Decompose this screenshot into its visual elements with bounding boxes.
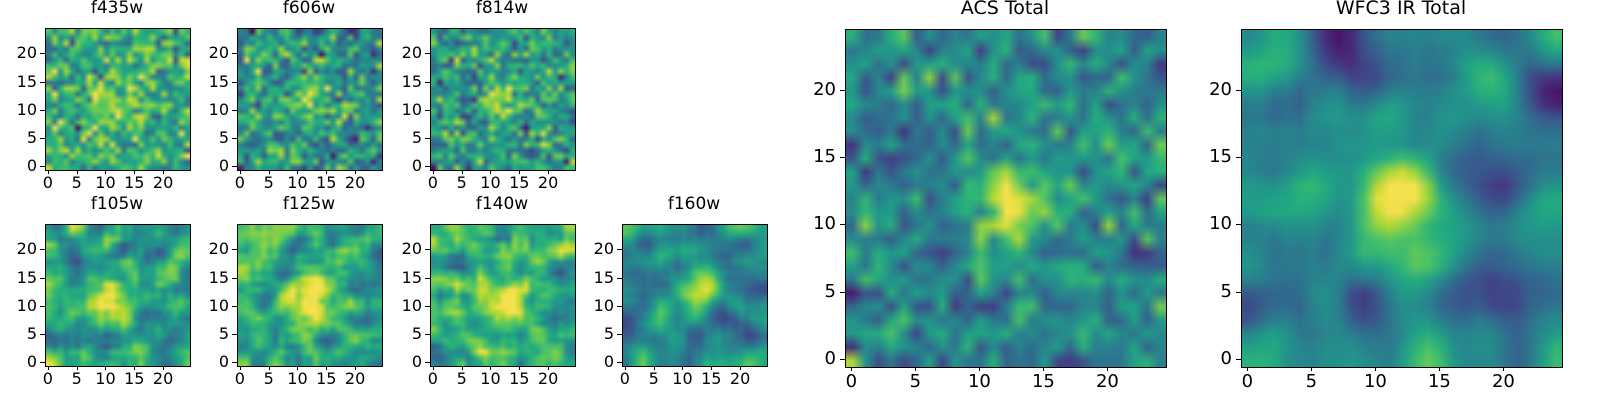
xtick-label: 0 [235, 175, 245, 191]
axes-f814w [430, 28, 576, 171]
ytick-label: 10 [370, 102, 422, 118]
xtick-label: 20 [730, 371, 750, 387]
heatmap-f814w [431, 29, 575, 170]
ytick-label: 20 [0, 241, 37, 257]
xtick-label: 5 [264, 175, 274, 191]
ytick-mark [40, 249, 45, 250]
ytick-mark [425, 249, 430, 250]
ytick-label: 15 [370, 74, 422, 90]
xtick-label: 15 [509, 175, 529, 191]
ytick-label: 0 [370, 158, 422, 174]
ytick-label: 0 [0, 354, 37, 370]
ytick-label: 20 [370, 45, 422, 61]
panel-f160w: f160w0510152005101520 [562, 196, 786, 407]
ytick-mark [425, 334, 430, 335]
ytick-mark [40, 334, 45, 335]
ytick-label: 15 [0, 74, 37, 90]
ytick-mark [40, 278, 45, 279]
panel-title-f160w: f160w [622, 196, 766, 213]
ytick-label: 20 [1181, 81, 1232, 99]
ytick-label: 10 [370, 298, 422, 314]
heatmap-f160w [623, 225, 767, 366]
ytick-mark [425, 306, 430, 307]
ytick-mark [840, 359, 845, 360]
ytick-mark [40, 362, 45, 363]
heatmap-f125w [238, 225, 382, 366]
heatmap-f606w [238, 29, 382, 170]
xtick-label: 15 [316, 175, 336, 191]
panel-f140w: f140w0510152005101520 [370, 196, 594, 407]
ytick-mark [425, 53, 430, 54]
ytick-label: 20 [0, 45, 37, 61]
xtick-label: 15 [124, 371, 144, 387]
ytick-label: 0 [785, 350, 836, 368]
xtick-label: 15 [1032, 373, 1055, 391]
heatmap-f105w [46, 225, 190, 366]
xtick-label: 5 [649, 371, 659, 387]
ytick-label: 0 [177, 158, 229, 174]
ytick-label: 15 [785, 148, 836, 166]
ytick-mark [232, 278, 237, 279]
ytick-mark [232, 249, 237, 250]
ytick-label: 10 [562, 298, 614, 314]
xtick-label: 10 [95, 175, 115, 191]
xtick-label: 0 [428, 175, 438, 191]
ytick-mark [425, 82, 430, 83]
xtick-label: 0 [428, 371, 438, 387]
panel-title-wfc3-ir-total: WFC3 IR Total [1241, 0, 1561, 18]
ytick-label: 10 [177, 102, 229, 118]
ytick-mark [1236, 292, 1241, 293]
xtick-label: 0 [43, 175, 53, 191]
ytick-mark [40, 306, 45, 307]
xtick-label: 10 [95, 371, 115, 387]
ytick-label: 10 [1181, 215, 1232, 233]
ytick-label: 5 [177, 130, 229, 146]
panel-f125w: f125w0510152005101520 [177, 196, 401, 407]
heatmap-f140w [431, 225, 575, 366]
ytick-mark [40, 166, 45, 167]
ytick-label: 20 [785, 81, 836, 99]
ytick-mark [425, 110, 430, 111]
ytick-label: 10 [0, 102, 37, 118]
ytick-label: 10 [177, 298, 229, 314]
xtick-label: 0 [235, 371, 245, 387]
ytick-mark [425, 362, 430, 363]
ytick-label: 20 [370, 241, 422, 257]
axes-f125w [237, 224, 383, 367]
panel-title-f105w: f105w [45, 196, 189, 213]
ytick-label: 15 [1181, 148, 1232, 166]
ytick-mark [1236, 224, 1241, 225]
ytick-mark [232, 110, 237, 111]
xtick-label: 10 [480, 371, 500, 387]
ytick-mark [425, 278, 430, 279]
ytick-mark [40, 138, 45, 139]
panel-f606w: f606w0510152005101520 [177, 0, 401, 211]
ytick-mark [232, 166, 237, 167]
ytick-label: 10 [0, 298, 37, 314]
axes-acs-total [845, 29, 1167, 368]
panel-title-acs-total: ACS Total [845, 0, 1165, 18]
ytick-label: 15 [0, 270, 37, 286]
xtick-label: 0 [43, 371, 53, 387]
panel-wfc3-ir-total: WFC3 IR Total0510152005101520 [1181, 0, 1581, 406]
ytick-mark [40, 82, 45, 83]
axes-f160w [622, 224, 768, 367]
panel-title-f814w: f814w [430, 0, 574, 17]
ytick-label: 15 [370, 270, 422, 286]
xtick-label: 10 [287, 371, 307, 387]
xtick-label: 20 [1096, 373, 1119, 391]
xtick-label: 5 [1306, 373, 1317, 391]
ytick-mark [1236, 359, 1241, 360]
axes-f606w [237, 28, 383, 171]
xtick-label: 15 [1428, 373, 1451, 391]
panel-title-f140w: f140w [430, 196, 574, 213]
xtick-label: 10 [1364, 373, 1387, 391]
axes-f105w [45, 224, 191, 367]
xtick-label: 0 [1242, 373, 1253, 391]
ytick-label: 5 [177, 326, 229, 342]
panel-title-f125w: f125w [237, 196, 381, 213]
panel-title-f435w: f435w [45, 0, 189, 17]
ytick-mark [40, 110, 45, 111]
ytick-mark [840, 224, 845, 225]
axes-f140w [430, 224, 576, 367]
ytick-label: 5 [562, 326, 614, 342]
heatmap-f435w [46, 29, 190, 170]
ytick-mark [617, 278, 622, 279]
ytick-mark [232, 82, 237, 83]
ytick-label: 15 [177, 270, 229, 286]
ytick-label: 20 [177, 241, 229, 257]
ytick-label: 0 [370, 354, 422, 370]
ytick-mark [840, 157, 845, 158]
ytick-mark [232, 334, 237, 335]
ytick-mark [617, 362, 622, 363]
ytick-label: 0 [0, 158, 37, 174]
xtick-label: 15 [316, 371, 336, 387]
xtick-label: 20 [345, 371, 365, 387]
heatmap-acs-total [846, 30, 1166, 367]
xtick-label: 20 [153, 175, 173, 191]
xtick-label: 15 [124, 175, 144, 191]
ytick-label: 0 [177, 354, 229, 370]
ytick-mark [232, 138, 237, 139]
xtick-label: 0 [846, 373, 857, 391]
ytick-label: 15 [177, 74, 229, 90]
ytick-mark [232, 306, 237, 307]
xtick-label: 20 [153, 371, 173, 387]
xtick-label: 15 [509, 371, 529, 387]
ytick-mark [840, 292, 845, 293]
figure-canvas: f435w0510152005101520f606w05101520051015… [0, 0, 1600, 400]
panel-title-f606w: f606w [237, 0, 381, 17]
ytick-label: 5 [785, 283, 836, 301]
xtick-label: 5 [72, 175, 82, 191]
xtick-label: 5 [457, 371, 467, 387]
ytick-label: 10 [785, 215, 836, 233]
ytick-mark [617, 334, 622, 335]
xtick-label: 5 [457, 175, 467, 191]
axes-wfc3-ir-total [1241, 29, 1563, 368]
ytick-label: 5 [0, 130, 37, 146]
xtick-label: 5 [910, 373, 921, 391]
ytick-mark [1236, 90, 1241, 91]
xtick-label: 10 [480, 175, 500, 191]
panel-f814w: f814w0510152005101520 [370, 0, 594, 211]
ytick-label: 5 [1181, 283, 1232, 301]
ytick-mark [232, 362, 237, 363]
ytick-label: 15 [562, 270, 614, 286]
ytick-mark [232, 53, 237, 54]
ytick-mark [617, 306, 622, 307]
ytick-label: 5 [0, 326, 37, 342]
ytick-label: 5 [370, 326, 422, 342]
ytick-mark [425, 138, 430, 139]
ytick-mark [40, 53, 45, 54]
xtick-label: 20 [345, 175, 365, 191]
ytick-label: 20 [177, 45, 229, 61]
xtick-label: 10 [968, 373, 991, 391]
axes-f435w [45, 28, 191, 171]
ytick-label: 0 [562, 354, 614, 370]
panel-acs-total: ACS Total0510152005101520 [785, 0, 1185, 406]
ytick-label: 0 [1181, 350, 1232, 368]
ytick-mark [840, 90, 845, 91]
ytick-mark [425, 166, 430, 167]
ytick-label: 20 [562, 241, 614, 257]
xtick-label: 10 [287, 175, 307, 191]
xtick-label: 5 [72, 371, 82, 387]
heatmap-wfc3-ir-total [1242, 30, 1562, 367]
xtick-label: 5 [264, 371, 274, 387]
xtick-label: 20 [538, 371, 558, 387]
xtick-label: 20 [538, 175, 558, 191]
ytick-mark [1236, 157, 1241, 158]
ytick-mark [617, 249, 622, 250]
xtick-label: 0 [620, 371, 630, 387]
xtick-label: 10 [672, 371, 692, 387]
xtick-label: 15 [701, 371, 721, 387]
xtick-label: 20 [1492, 373, 1515, 391]
ytick-label: 5 [370, 130, 422, 146]
